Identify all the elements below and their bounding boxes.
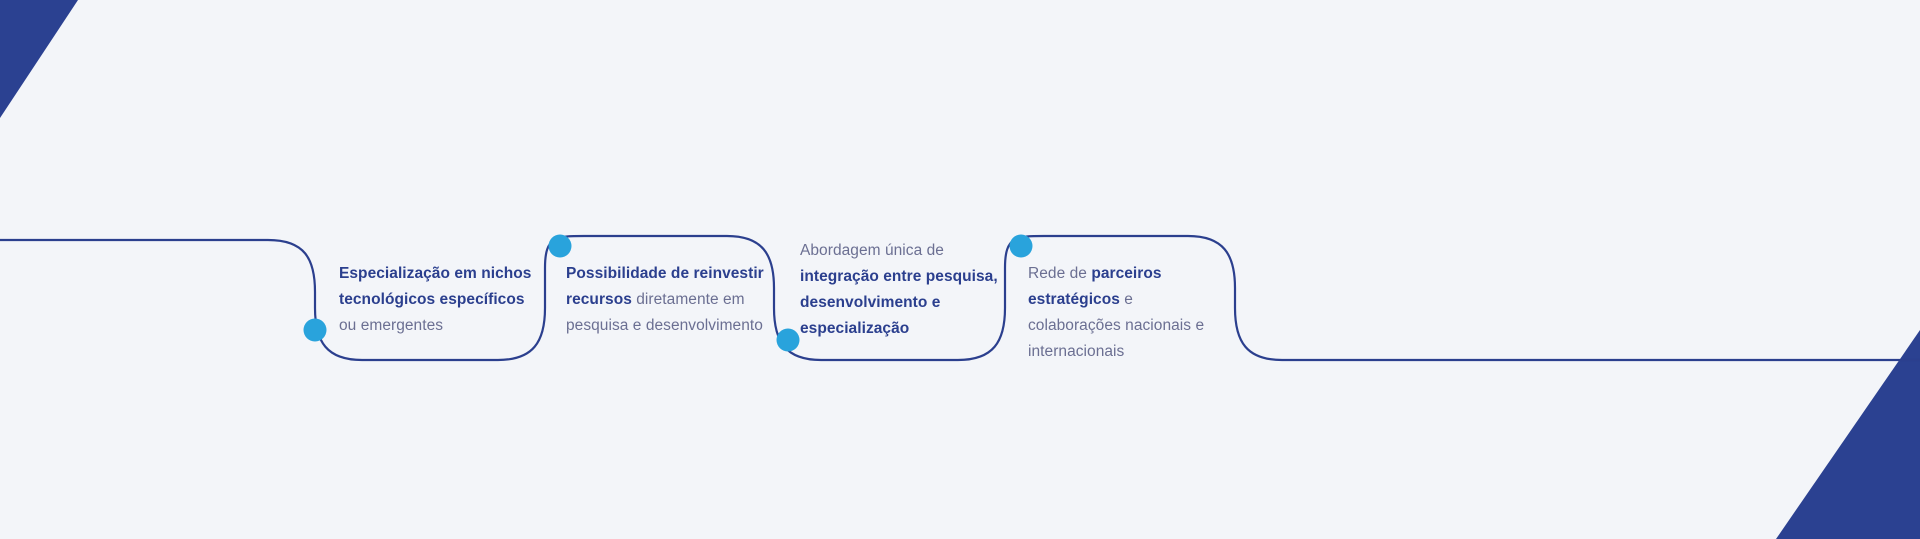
timeline-dot-2 <box>549 235 572 258</box>
timeline-text-run: Rede de <box>1028 265 1091 282</box>
timeline-text-run: ou emergentes <box>339 317 443 334</box>
timeline-text-run: Especialização em nichos tecnológicos es… <box>339 265 531 308</box>
timeline-dot-3 <box>777 329 800 352</box>
timeline-text-run: Abordagem única de <box>800 242 944 259</box>
timeline-dot-4 <box>1010 235 1033 258</box>
timeline-item-text-3: Abordagem única de integração entre pesq… <box>800 238 998 342</box>
timeline-item-text-4: Rede de parceiros estratégicos e colabor… <box>1028 261 1228 365</box>
timeline-dot-1 <box>304 319 327 342</box>
timeline-item-text-1: Especialização em nichos tecnológicos es… <box>339 261 535 339</box>
timeline-item-text-2: Possibilidade de reinvestir recursos dir… <box>566 261 766 339</box>
timeline-text-run: integração entre pesquisa, desenvolvimen… <box>800 268 998 337</box>
infographic-canvas: Especialização em nichos tecnológicos es… <box>0 0 1920 539</box>
